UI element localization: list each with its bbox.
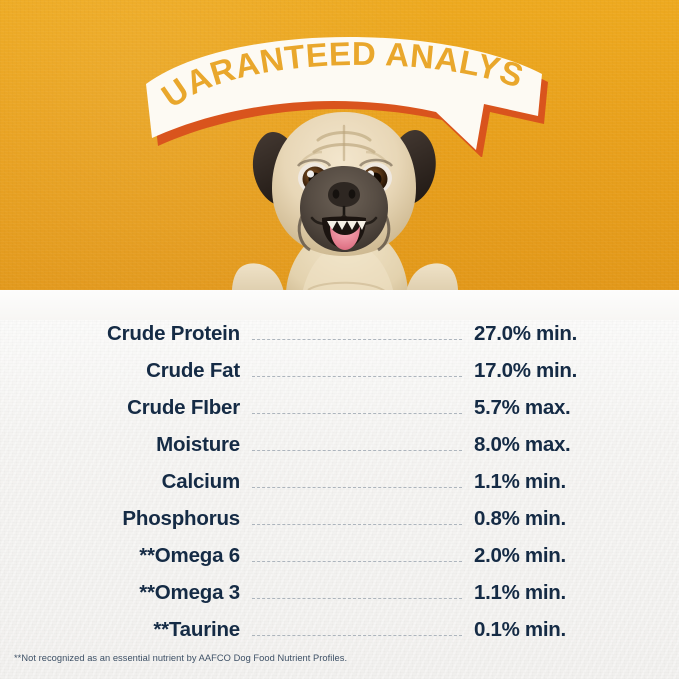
- nutrient-label: Crude Protein: [0, 322, 240, 346]
- leader-line: [252, 375, 462, 377]
- nutrient-value: 1.1% min.: [474, 581, 679, 605]
- nutrient-value: 2.0% min.: [474, 544, 679, 568]
- nutrient-label: Crude FIber: [0, 396, 240, 420]
- nutrient-value: 17.0% min.: [474, 359, 679, 383]
- leader-line: [252, 597, 462, 599]
- leader-line: [252, 634, 462, 636]
- table-row: Crude Protein 27.0% min.: [0, 322, 679, 359]
- nutrient-value: 0.8% min.: [474, 507, 679, 531]
- table-row: **Omega 6 2.0% min.: [0, 544, 679, 581]
- nutrient-label: **Omega 3: [0, 581, 240, 605]
- table-row: **Taurine 0.1% min.: [0, 618, 679, 655]
- nutrient-label: Moisture: [0, 433, 240, 457]
- leader-line: [252, 412, 462, 414]
- nutrient-label: Crude Fat: [0, 359, 240, 383]
- aafco-footnote: **Not recognized as an essential nutrien…: [14, 653, 347, 663]
- guaranteed-analysis-panel: GUARANTEED ANALYSIS Crude Protein 27.0% …: [0, 0, 679, 679]
- leader-line: [252, 560, 462, 562]
- table-row: Phosphorus 0.8% min.: [0, 507, 679, 544]
- leader-line: [252, 523, 462, 525]
- nutrient-label: Calcium: [0, 470, 240, 494]
- table-row: Crude FIber 5.7% max.: [0, 396, 679, 433]
- guaranteed-analysis-banner: GUARANTEED ANALYSIS: [140, 32, 550, 157]
- guaranteed-analysis-table: Crude Protein 27.0% min. Crude Fat 17.0%…: [0, 322, 679, 655]
- leader-line: [252, 449, 462, 451]
- nutrient-value: 1.1% min.: [474, 470, 679, 494]
- table-row: Calcium 1.1% min.: [0, 470, 679, 507]
- nutrient-value: 5.7% max.: [474, 396, 679, 420]
- nutrient-value: 0.1% min.: [474, 618, 679, 642]
- nutrient-value: 27.0% min.: [474, 322, 679, 346]
- leader-line: [252, 338, 462, 340]
- leader-line: [252, 486, 462, 488]
- nutrient-value: 8.0% max.: [474, 433, 679, 457]
- table-row: Moisture 8.0% max.: [0, 433, 679, 470]
- table-row: Crude Fat 17.0% min.: [0, 359, 679, 396]
- nutrient-label: **Omega 6: [0, 544, 240, 568]
- nutrient-label: Phosphorus: [0, 507, 240, 531]
- table-row: **Omega 3 1.1% min.: [0, 581, 679, 618]
- paper-ledge: [0, 290, 679, 320]
- nutrient-label: **Taurine: [0, 618, 240, 642]
